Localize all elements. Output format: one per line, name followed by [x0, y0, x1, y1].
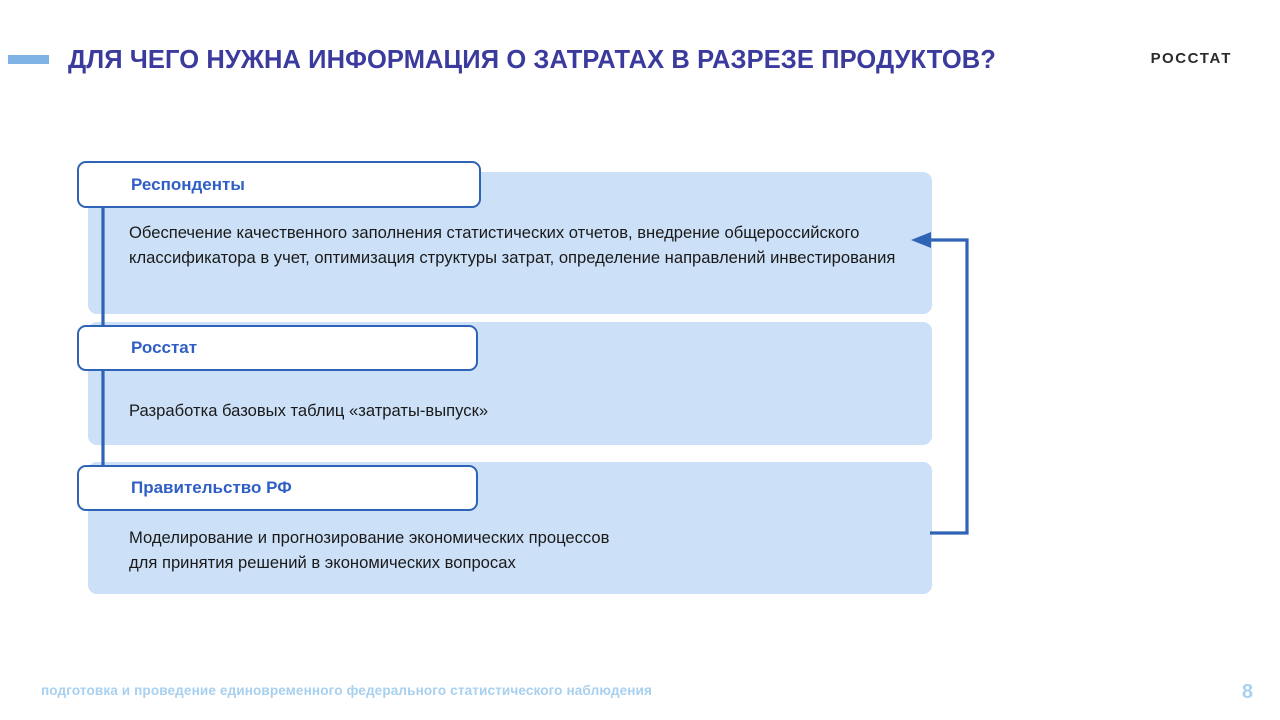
flow-step-respondents[interactable]: Респонденты: [77, 161, 481, 208]
flow-step-label-respondents: Респонденты: [131, 175, 245, 195]
feedback-arrow-head: [911, 232, 931, 248]
flow-diagram: Обеспечение качественного заполнения ста…: [0, 0, 1280, 720]
page-number: 8: [1242, 681, 1253, 704]
flow-step-rosstat[interactable]: Росстат: [77, 325, 478, 371]
footer-note: подготовка и проведение единовременного …: [41, 683, 652, 698]
flow-step-government[interactable]: Правительство РФ: [77, 465, 478, 511]
feedback-connector-line: [922, 240, 967, 533]
flow-step-label-rosstat: Росстат: [131, 338, 197, 358]
flow-step-label-government: Правительство РФ: [131, 478, 292, 498]
